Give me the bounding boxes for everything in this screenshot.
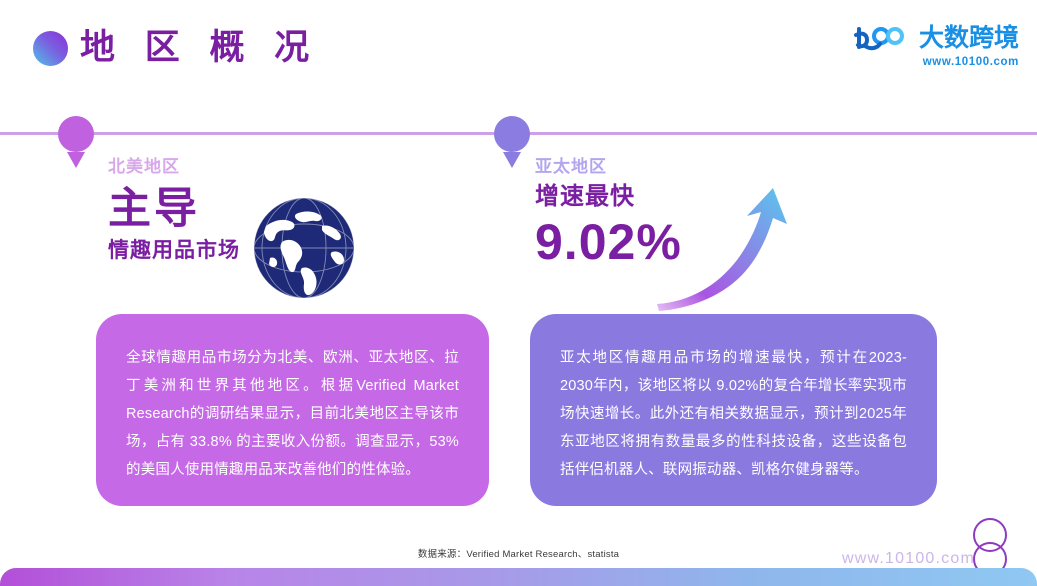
info-card-north-america: 全球情趣用品市场分为北美、欧洲、亚太地区、拉丁美洲和世界其他地区。根据Verif… xyxy=(96,314,489,506)
watermark: www.10100.com xyxy=(842,550,975,568)
map-pin-marker-asia-pacific xyxy=(494,116,530,152)
card-text-asia-pacific: 亚太地区情趣用品市场的增速最快，预计在2023-2030年内，该地区将以 9.0… xyxy=(560,344,907,484)
logo-name: 大数跨境 xyxy=(919,23,1019,53)
logo-url: www.10100.com xyxy=(849,56,1019,68)
map-pin-marker-north-america xyxy=(58,116,94,152)
brand-logo: 大数跨境 www.10100.com xyxy=(849,22,1019,74)
card-text-north-america: 全球情趣用品市场分为北美、欧洲、亚太地区、拉丁美洲和世界其他地区。根据Verif… xyxy=(126,344,459,484)
logo-row: 大数跨境 xyxy=(849,22,1019,54)
pin-dot xyxy=(58,116,94,152)
growth-arrow-up-icon xyxy=(655,186,800,311)
10100-logo-mark xyxy=(853,23,915,53)
pin-dot xyxy=(494,116,530,152)
pin-triangle xyxy=(67,152,85,168)
slide-canvas: 地 区 概 况 大数跨境 www.10100.com 北美地区 主导 情趣用品市… xyxy=(0,0,1037,586)
bottom-gradient-bar xyxy=(0,568,1037,586)
gradient-circle-icon xyxy=(33,31,68,66)
globe-americas-icon xyxy=(252,196,356,300)
region-label-north-america: 北美地区 xyxy=(108,155,508,179)
info-card-asia-pacific: 亚太地区情趣用品市场的增速最快，预计在2023-2030年内，该地区将以 9.0… xyxy=(530,314,937,506)
page-title: 地 区 概 况 xyxy=(80,24,319,72)
region-label-asia-pacific: 亚太地区 xyxy=(535,155,975,179)
